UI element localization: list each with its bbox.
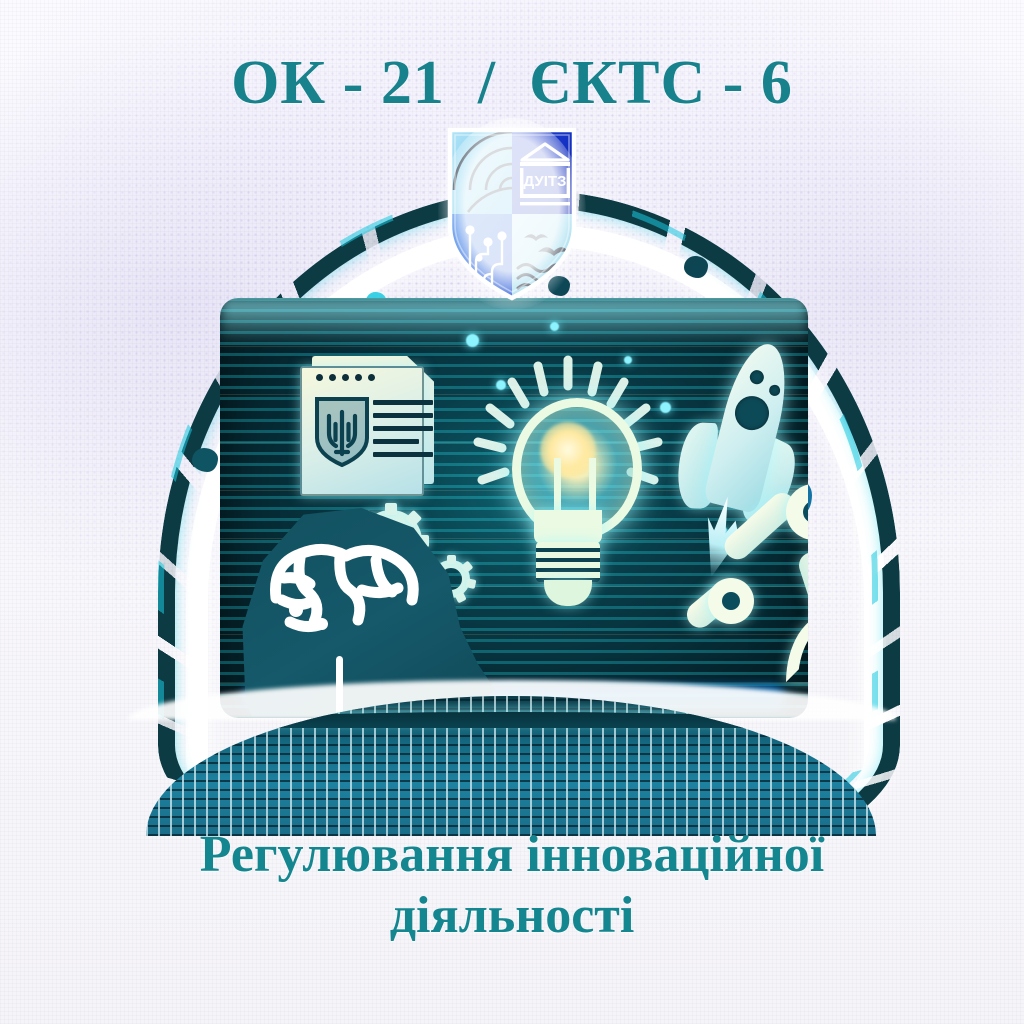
- document-text-lines: [373, 400, 433, 465]
- poster-canvas: ОК - 21 / ЄКТС - 6: [0, 0, 1024, 1024]
- robotic-arm: [690, 478, 808, 658]
- course-title-line-2: діяльності: [60, 885, 964, 946]
- bulb-screw-base: [536, 542, 600, 582]
- tech-panel: [220, 298, 808, 718]
- sparkle-dot: [466, 334, 479, 347]
- duitz-university-shield: ДУІТЗ: [446, 126, 578, 302]
- grid-globe-base: [146, 696, 876, 836]
- shield-wordmark: ДУІТЗ: [524, 173, 567, 190]
- document-bullet-dots: [316, 374, 375, 381]
- sparkle-dot: [550, 322, 559, 331]
- bulb-neck: [534, 510, 602, 544]
- course-title: Регулювання інноваційної діяльності: [60, 824, 964, 947]
- bulb-stem: [554, 458, 596, 514]
- glow-blob: [192, 448, 218, 472]
- glow-blob: [684, 256, 708, 278]
- robot-arm-claw: [786, 614, 808, 682]
- robot-arm-segment-vertical: [796, 549, 808, 624]
- page-headline: ОК - 21 / ЄКТС - 6: [0, 52, 1024, 114]
- certificate-document: [300, 356, 440, 496]
- robot-arm-joint-top: [786, 484, 808, 540]
- brain-illustration: [266, 538, 426, 668]
- course-title-line-1: Регулювання інноваційної: [60, 824, 964, 885]
- ukrainian-trident-emblem: [314, 396, 370, 468]
- robot-arm-joint-mid: [708, 578, 754, 624]
- bulb-tip: [544, 580, 592, 606]
